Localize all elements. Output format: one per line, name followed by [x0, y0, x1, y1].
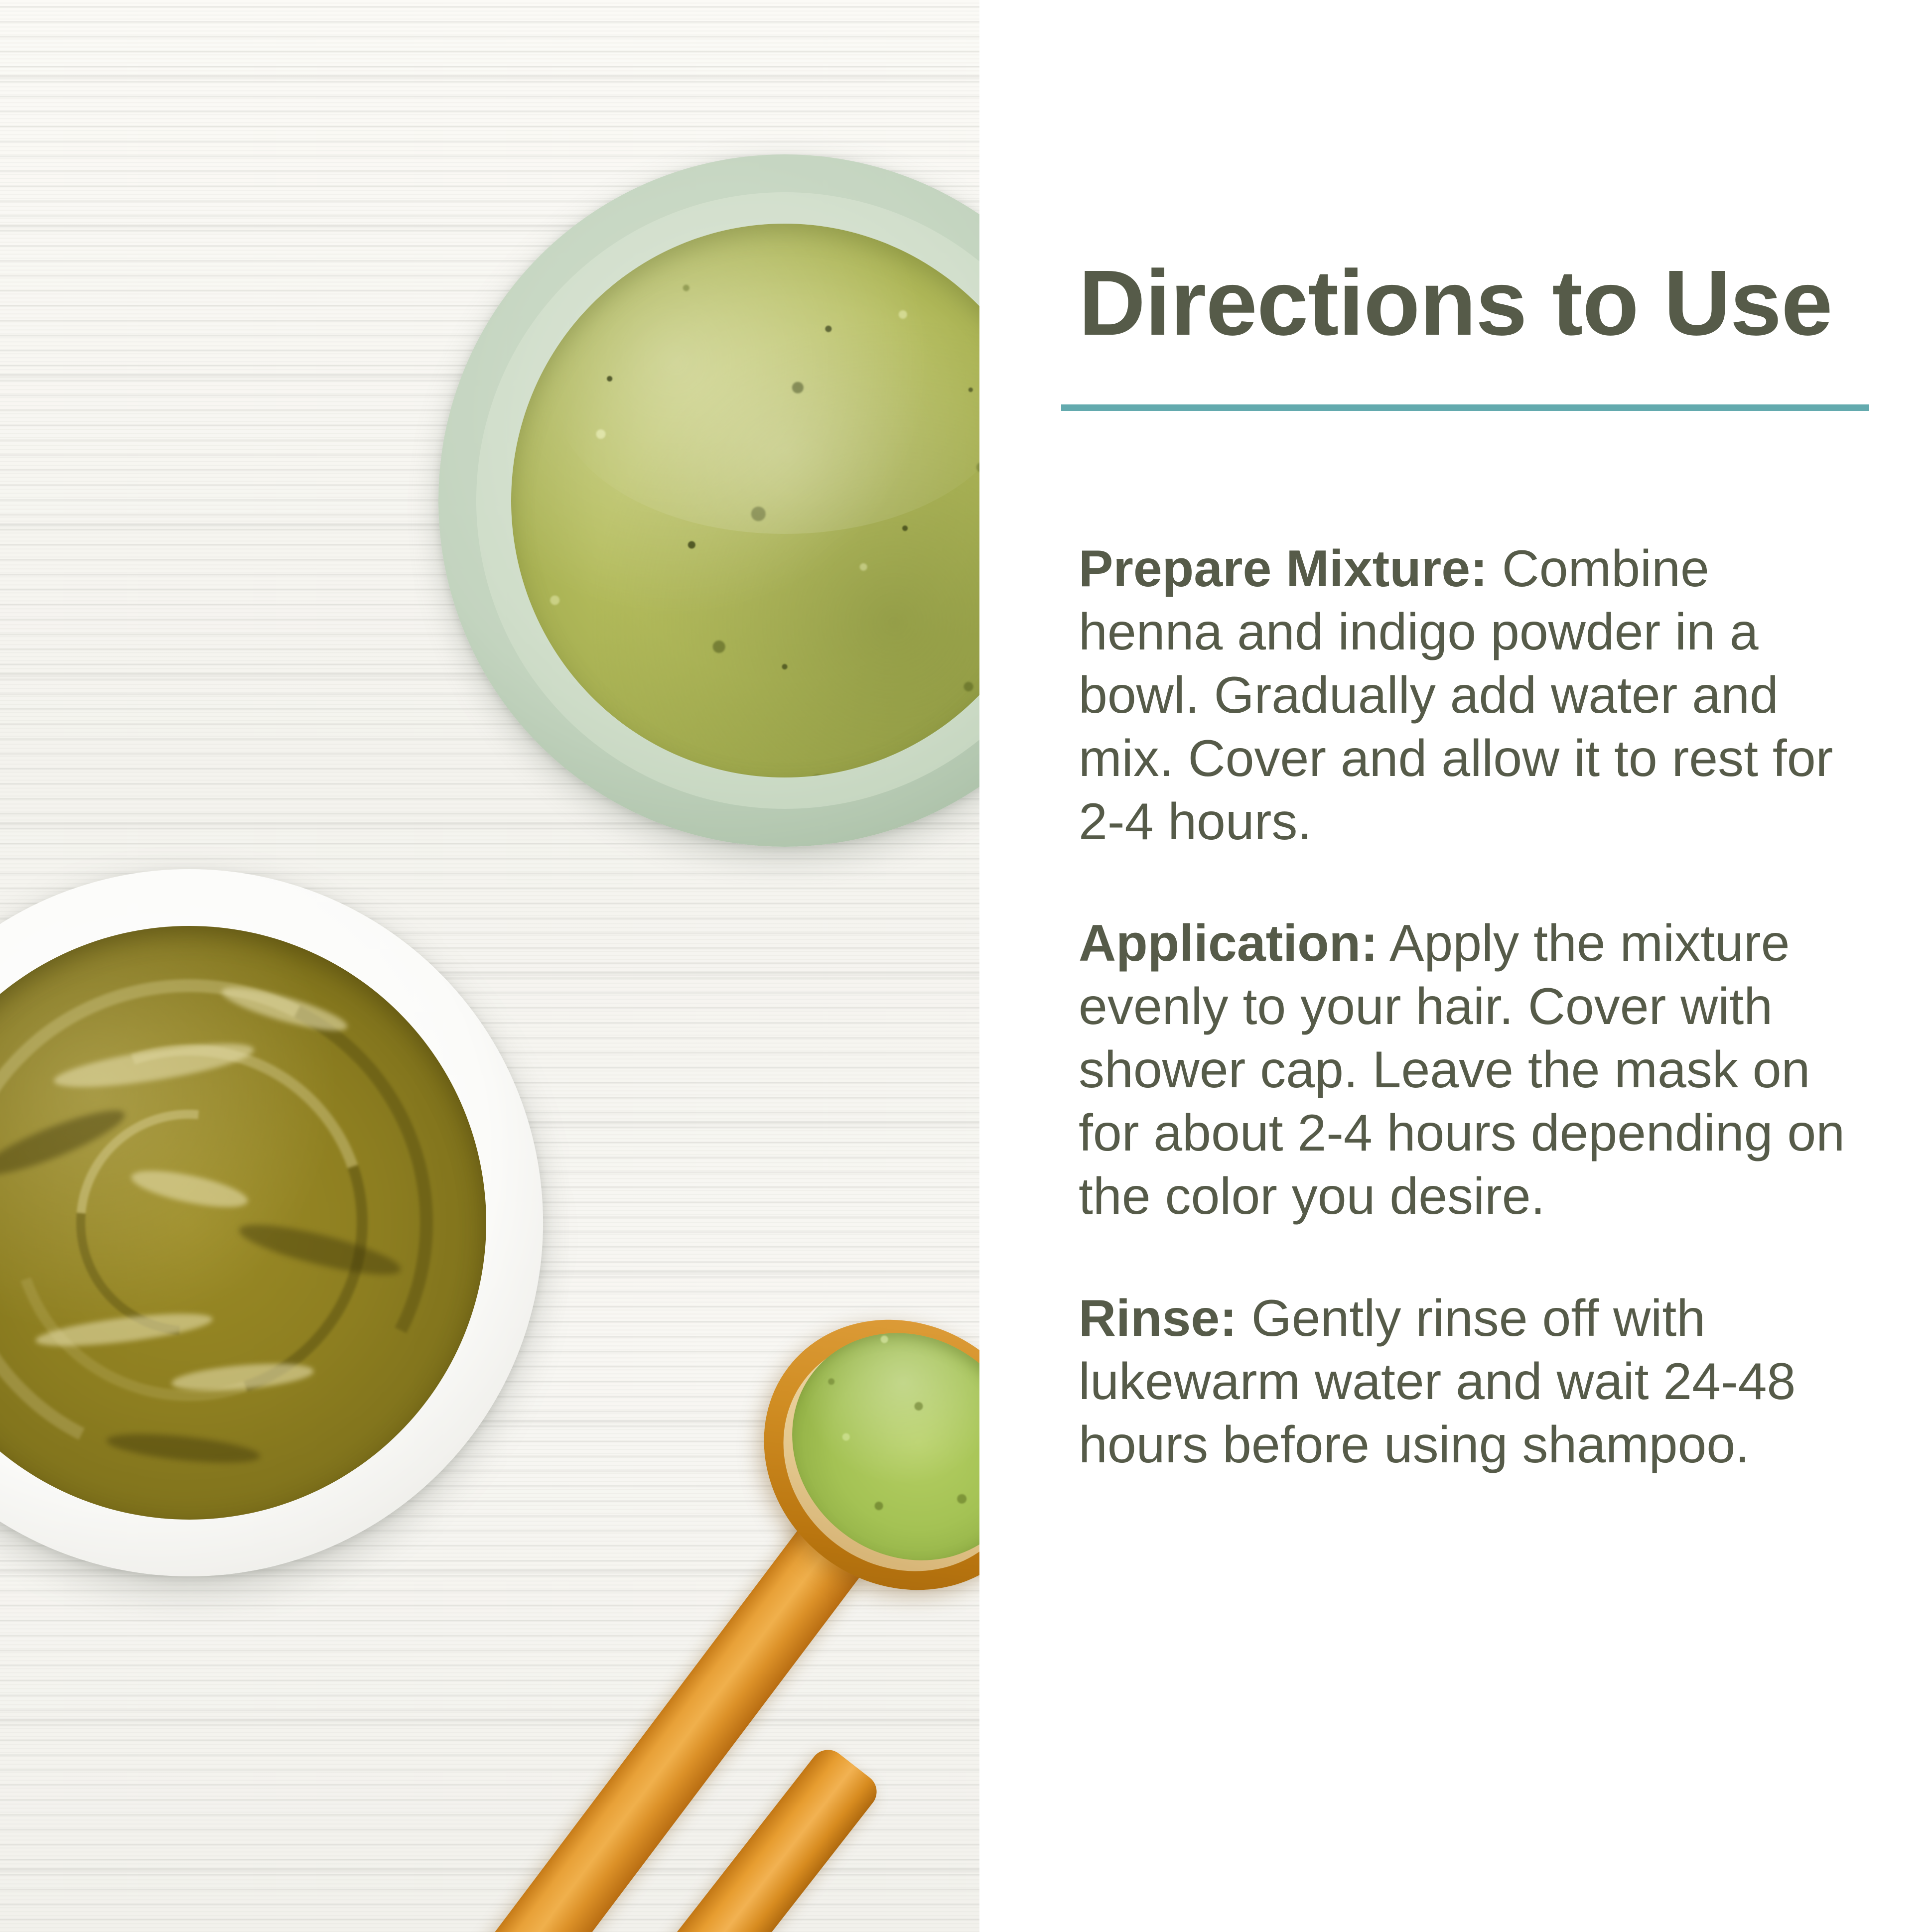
infographic-canvas: Directions to Use Prepare Mixture: Combi… [0, 0, 1932, 1932]
step-label: Application: [1079, 914, 1378, 972]
step-prepare-mixture: Prepare Mixture: Combine henna and indig… [1079, 537, 1866, 853]
henna-paste [0, 926, 486, 1520]
directions-steps-list: Prepare Mixture: Combine henna and indig… [1079, 486, 1866, 1476]
green-henna-powder [511, 224, 979, 777]
product-photo [0, 0, 979, 1932]
title-divider [1061, 404, 1869, 411]
step-application: Application: Apply the mixture evenly to… [1079, 912, 1866, 1228]
directions-panel: Directions to Use Prepare Mixture: Combi… [979, 0, 1932, 1932]
step-label: Rinse: [1079, 1289, 1237, 1347]
page-title: Directions to Use [1079, 257, 1886, 350]
step-rinse: Rinse: Gently rinse off with lukewarm wa… [1079, 1287, 1866, 1477]
mint-bowl-with-green-powder [438, 154, 979, 847]
step-label: Prepare Mixture: [1079, 540, 1488, 598]
